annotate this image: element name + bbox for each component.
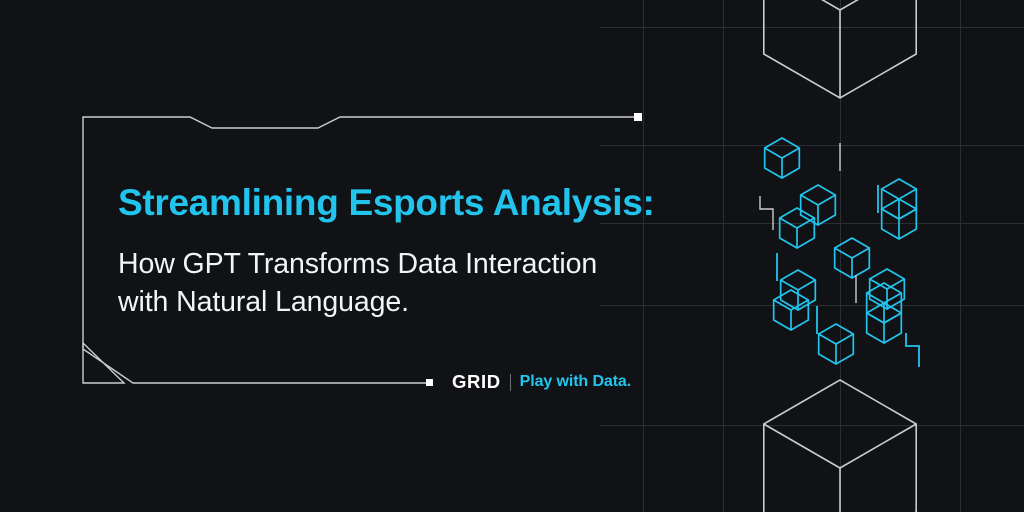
grid-line-horizontal bbox=[600, 145, 1024, 146]
brand-wordmark: GRID bbox=[452, 373, 501, 392]
page-title: Streamlining Esports Analysis: bbox=[118, 182, 663, 223]
frame-endpoint-square-top bbox=[634, 113, 642, 121]
accent-cube-group bbox=[765, 138, 917, 364]
grid-line-vertical bbox=[840, 0, 841, 512]
large-cube-group bbox=[764, 0, 916, 512]
hero-banner: Streamlining Esports Analysis: How GPT T… bbox=[0, 0, 1024, 512]
tick-mark-group bbox=[760, 143, 919, 367]
grid-line-vertical bbox=[723, 0, 724, 512]
logo-divider bbox=[510, 374, 511, 391]
subtitle-line-2: with Natural Language. bbox=[118, 284, 663, 322]
grid-line-horizontal bbox=[600, 305, 1024, 306]
grid-line-vertical bbox=[960, 0, 961, 512]
grid-line-horizontal bbox=[600, 425, 1024, 426]
page-subtitle: How GPT Transforms Data Interaction with… bbox=[118, 223, 663, 321]
frame-corner-triangle bbox=[83, 343, 124, 383]
text-block: Streamlining Esports Analysis: How GPT T… bbox=[118, 182, 663, 322]
subtitle-line-1: How GPT Transforms Data Interaction bbox=[118, 246, 663, 284]
brand-tagline: Play with Data. bbox=[520, 374, 631, 390]
grid-line-horizontal bbox=[600, 223, 1024, 224]
brand-logo-lockup: GRID Play with Data. bbox=[452, 371, 631, 393]
grid-line-horizontal bbox=[600, 27, 1024, 28]
frame-endpoint-square-bottom bbox=[426, 379, 433, 386]
